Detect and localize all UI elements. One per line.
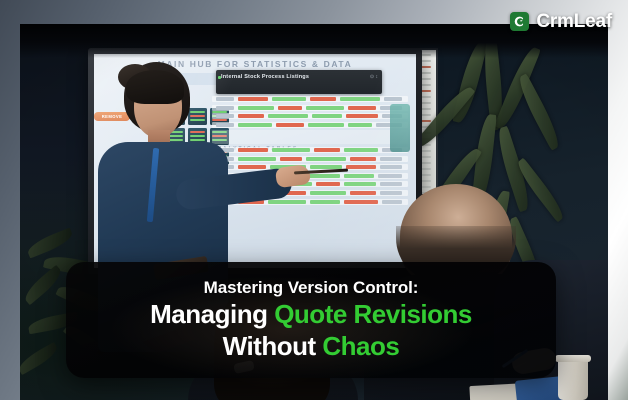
- title-line-2: Managing Quote Revisions: [150, 299, 472, 329]
- title-line-3-plain: Without: [223, 331, 323, 361]
- title-line-3: Without Chaos: [223, 331, 400, 361]
- title-line-2-plain: Managing: [150, 299, 274, 329]
- presenter-hair-front: [126, 70, 184, 104]
- title-line-3-accent: Chaos: [322, 331, 399, 361]
- dashboard-card-meta: ⊙ ↕: [370, 74, 378, 80]
- coffee-cup-lid: [555, 355, 591, 362]
- brand-name: CrmLeaf: [536, 12, 612, 31]
- page-frame: MAIN HUB FOR STATISTICS & DATA PORTFOLIO…: [0, 0, 628, 400]
- title-overlay-card: Mastering Version Control: Managing Quot…: [66, 262, 556, 378]
- title-line-1: Mastering Version Control:: [204, 279, 419, 298]
- brand-lockup[interactable]: CrmLeaf: [510, 12, 612, 31]
- crmleaf-logo-icon: [510, 12, 529, 31]
- screen-side-panel: [390, 104, 410, 152]
- coffee-cup: [558, 358, 588, 400]
- title-line-2-accent: Quote Revisions: [274, 299, 472, 329]
